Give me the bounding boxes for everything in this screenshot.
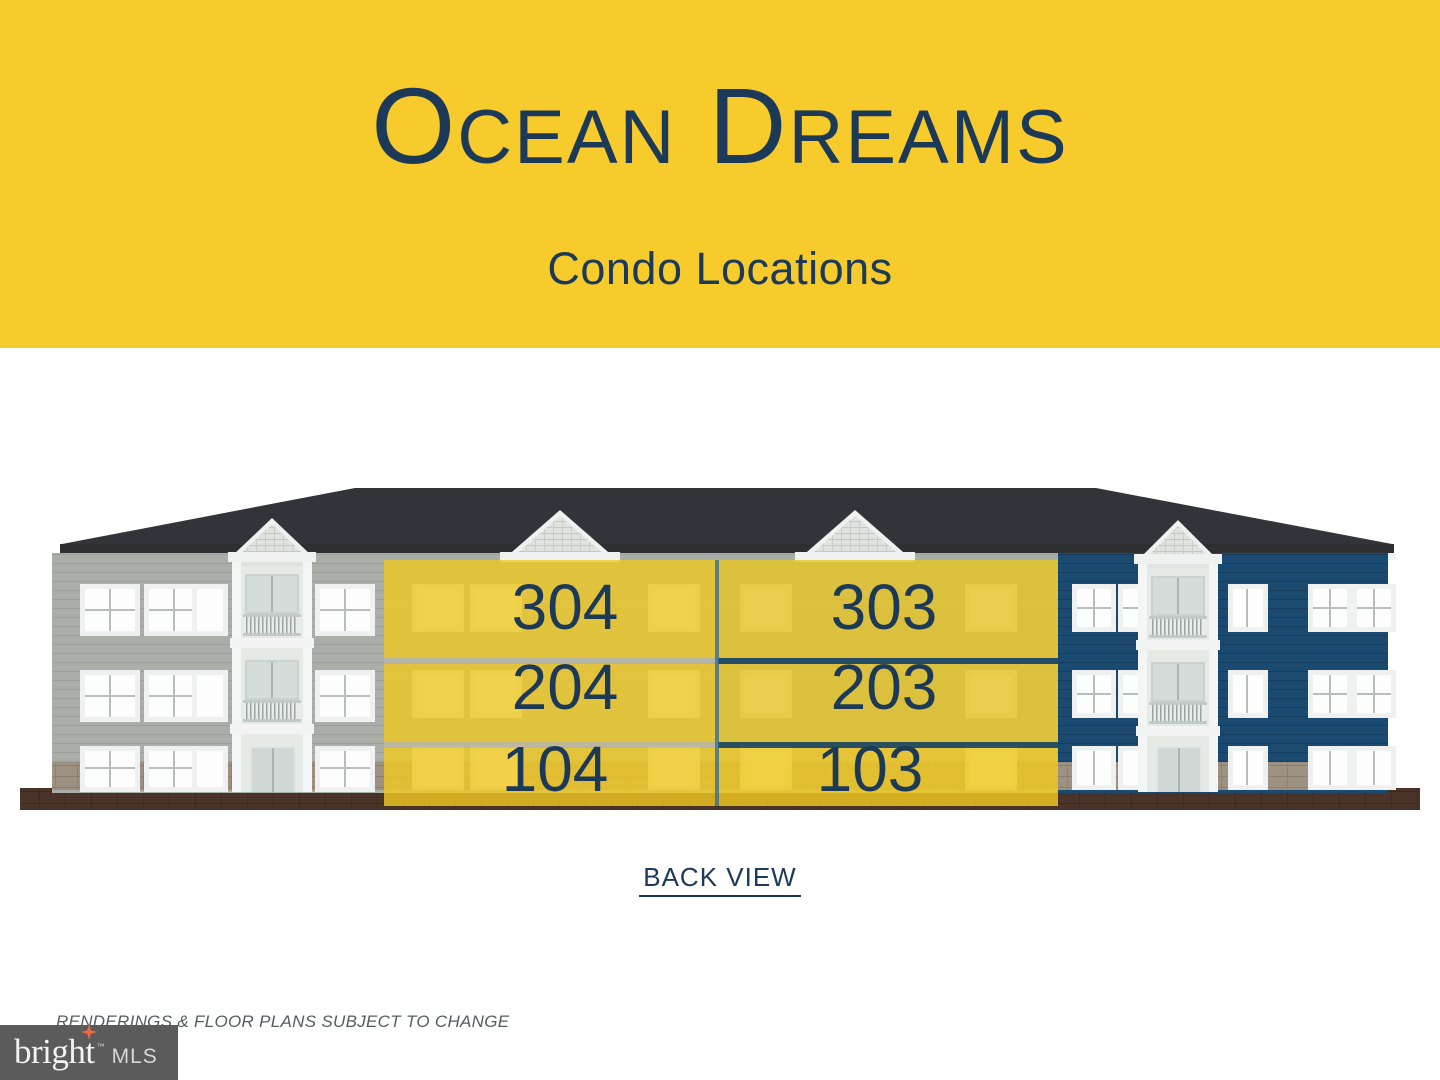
unit-label-103[interactable]: 103 [817, 733, 924, 805]
bright-mls-watermark: bright ™ MLS [0, 1025, 178, 1080]
trademark-symbol: ™ [97, 1042, 105, 1051]
unit-label-104[interactable]: 104 [502, 733, 609, 805]
back-view-label[interactable]: BACK VIEW [639, 862, 800, 897]
window-group-right [1072, 584, 1396, 790]
window-group-left [80, 584, 375, 792]
unit-label-204[interactable]: 204 [512, 651, 619, 723]
stairwell-tower-4 [1134, 520, 1222, 792]
unit-label-304[interactable]: 304 [512, 571, 619, 643]
back-view-label-wrap: BACK VIEW [0, 862, 1440, 897]
watermark-suffix-label: MLS [112, 1046, 158, 1067]
slide-canvas: Ocean Dreams Condo Locations [0, 0, 1440, 1080]
page-subtitle: Condo Locations [0, 243, 1440, 295]
page-title: Ocean Dreams [0, 72, 1440, 180]
stack-divider [715, 560, 719, 806]
stairwell-tower-1 [228, 518, 316, 792]
building-elevation-illustration: 304 204 104 303 203 103 [0, 348, 1440, 848]
watermark-brand-text: bright [14, 1034, 95, 1069]
unit-label-203[interactable]: 203 [831, 651, 938, 723]
building-rendering: 304 204 104 303 203 103 [0, 348, 1440, 848]
unit-label-303[interactable]: 303 [831, 571, 938, 643]
header-banner: Ocean Dreams Condo Locations [0, 0, 1440, 348]
unit-highlight-overlay [384, 560, 1058, 806]
watermark-brand-label: bright [14, 1032, 95, 1071]
